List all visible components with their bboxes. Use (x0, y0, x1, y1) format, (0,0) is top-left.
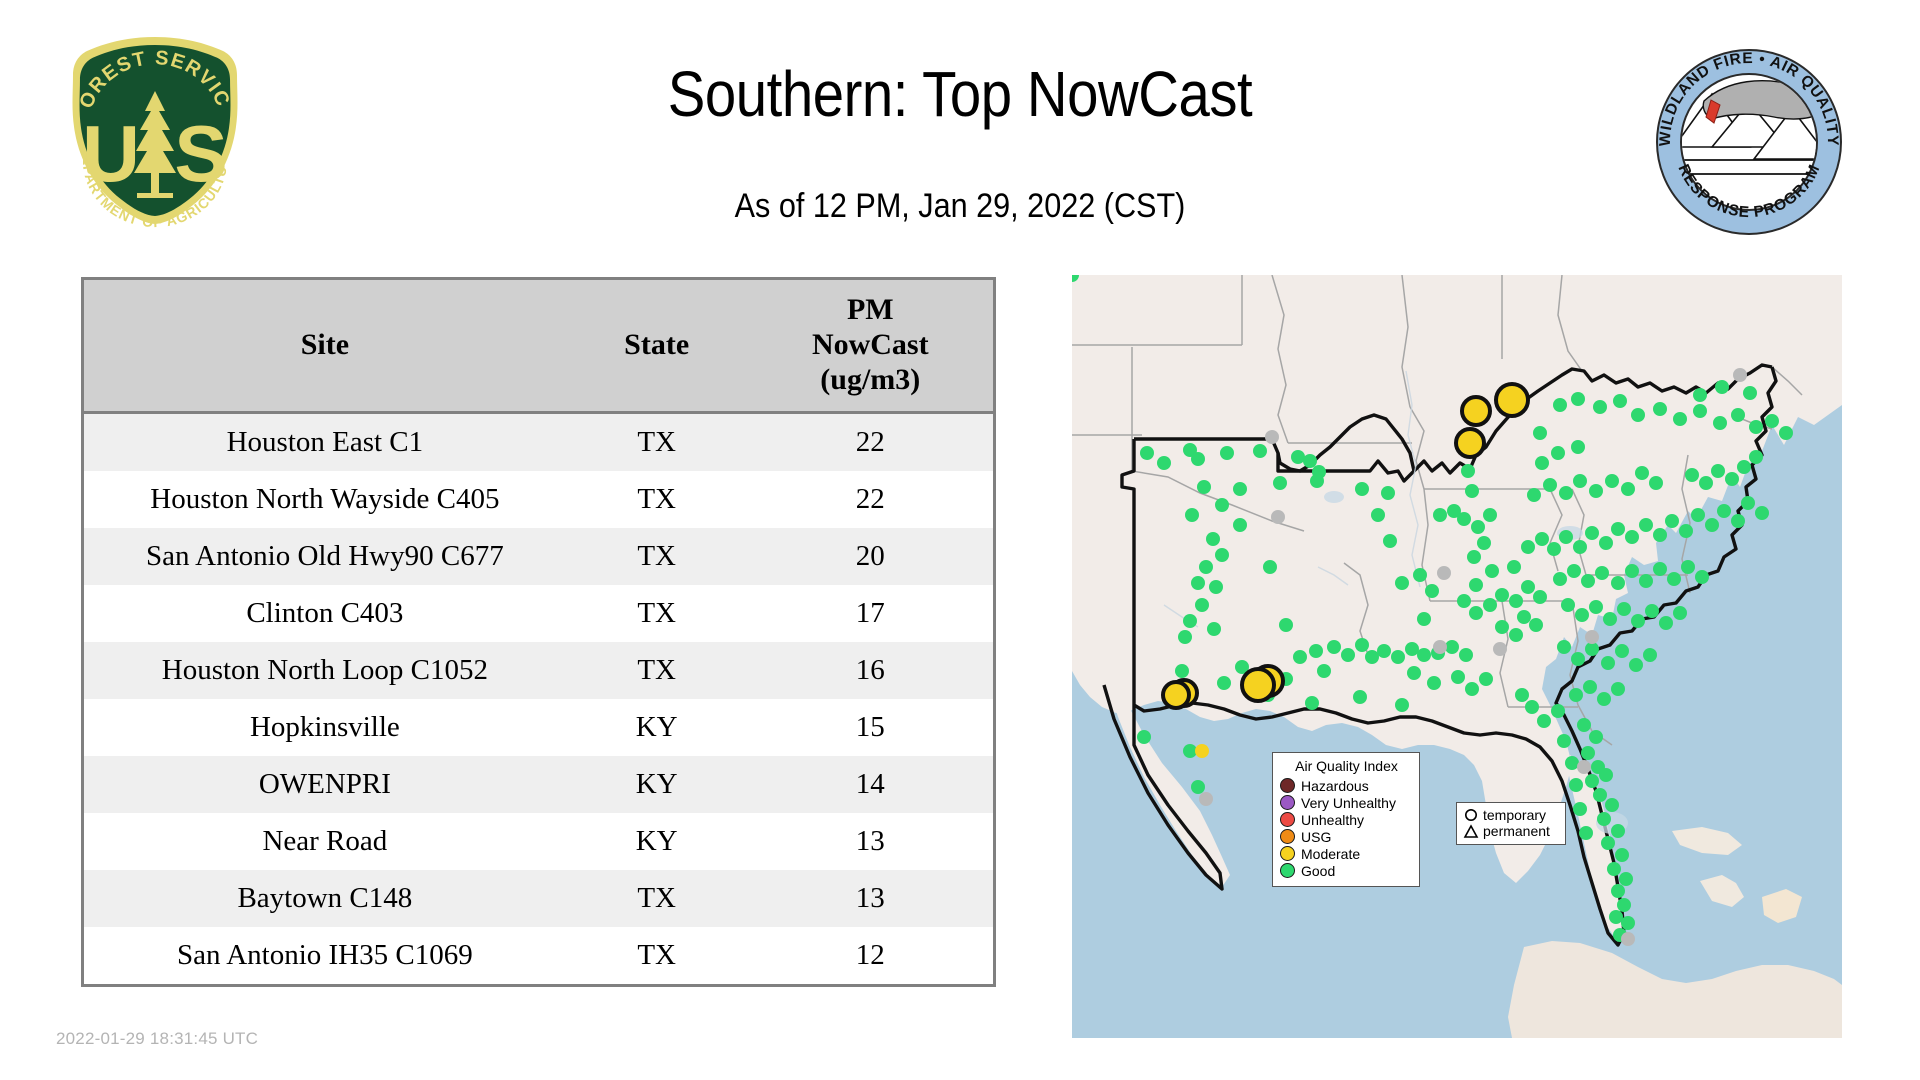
aqi-legend-label: Good (1301, 864, 1335, 878)
aqi-legend-row: Hazardous (1280, 777, 1413, 794)
aqi-legend-label: Moderate (1301, 847, 1360, 861)
cell-value: 13 (748, 813, 993, 870)
legend-row-permanent: permanent (1463, 823, 1560, 839)
aqi-swatch-icon (1280, 829, 1295, 844)
cell-site: Clinton C403 (84, 585, 566, 642)
air-quality-index-legend: Air Quality Index HazardousVery Unhealth… (1272, 752, 1420, 887)
table-row: Baytown C148TX13 (84, 870, 993, 927)
aqi-legend-label: Very Unhealthy (1301, 796, 1396, 810)
cell-value: 22 (748, 471, 993, 528)
aqi-legend-row: Unhealthy (1280, 811, 1413, 828)
cell-value: 12 (748, 927, 993, 984)
cell-state: TX (566, 642, 748, 699)
cell-value: 15 (748, 699, 993, 756)
aqi-legend-row: Very Unhealthy (1280, 794, 1413, 811)
aqi-legend-row: Moderate (1280, 845, 1413, 862)
table-header-row: Site State PM NowCast (ug/m3) (84, 280, 993, 413)
aqi-swatch-icon (1280, 863, 1295, 878)
cell-value: 13 (748, 870, 993, 927)
table-row: San Antonio Old Hwy90 C677TX20 (84, 528, 993, 585)
cell-site: Hopkinsville (84, 699, 566, 756)
cell-state: KY (566, 813, 748, 870)
map-canvas (1072, 275, 1842, 1038)
table-row: Houston East C1TX22 (84, 413, 993, 472)
legend-row-temporary: temporary (1463, 807, 1560, 823)
permanent-triangle-icon (1463, 824, 1479, 839)
cell-site: Baytown C148 (84, 870, 566, 927)
aqi-legend-label: Unhealthy (1301, 813, 1364, 827)
column-header-site: Site (84, 280, 566, 413)
cell-site: Houston North Loop C1052 (84, 642, 566, 699)
table-row: Houston North Wayside C405TX22 (84, 471, 993, 528)
table-row: OWENPRIKY14 (84, 756, 993, 813)
table-row: Houston North Loop C1052TX16 (84, 642, 993, 699)
cell-state: TX (566, 528, 748, 585)
cell-state: KY (566, 756, 748, 813)
cell-value: 20 (748, 528, 993, 585)
generation-timestamp: 2022-01-29 18:31:45 UTC (56, 1029, 258, 1049)
cell-site: San Antonio IH35 C1069 (84, 927, 566, 984)
cell-value: 17 (748, 585, 993, 642)
cell-site: Near Road (84, 813, 566, 870)
aqi-swatch-icon (1280, 846, 1295, 861)
aqi-swatch-icon (1280, 778, 1295, 793)
pm-line-3: (ug/m3) (820, 363, 920, 396)
pm-line-2: NowCast (812, 328, 929, 361)
aqi-legend-label: USG (1301, 830, 1331, 844)
cell-state: TX (566, 471, 748, 528)
pm-line-1: PM (847, 293, 894, 326)
table-row: Near RoadKY13 (84, 813, 993, 870)
table-row: HopkinsvilleKY15 (84, 699, 993, 756)
aqi-legend-title: Air Quality Index (1280, 758, 1413, 774)
column-header-pm-nowcast: PM NowCast (ug/m3) (748, 280, 993, 413)
table-row: San Antonio IH35 C1069TX12 (84, 927, 993, 984)
column-header-state: State (566, 280, 748, 413)
aqi-legend-row: Good (1280, 862, 1413, 879)
cell-value: 16 (748, 642, 993, 699)
page-title: Southern: Top NowCast (115, 58, 1805, 130)
cell-value: 14 (748, 756, 993, 813)
aqi-swatch-icon (1280, 795, 1295, 810)
cell-state: TX (566, 585, 748, 642)
cell-site: San Antonio Old Hwy90 C677 (84, 528, 566, 585)
cell-state: TX (566, 413, 748, 472)
top-nowcast-table: Site State PM NowCast (ug/m3) Houston Ea… (81, 277, 996, 987)
cell-state: TX (566, 927, 748, 984)
legend-label-permanent: permanent (1483, 824, 1550, 838)
page-subtitle: As of 12 PM, Jan 29, 2022 (CST) (96, 185, 1824, 227)
table-row: Clinton C403TX17 (84, 585, 993, 642)
cell-value: 22 (748, 413, 993, 472)
temporary-circle-icon (1463, 808, 1479, 823)
monitor-type-legend: temporary permanent (1456, 802, 1566, 845)
cell-site: OWENPRI (84, 756, 566, 813)
cell-site: Houston East C1 (84, 413, 566, 472)
aqi-swatch-icon (1280, 812, 1295, 827)
legend-label-temporary: temporary (1483, 808, 1546, 822)
cell-state: TX (566, 870, 748, 927)
cell-site: Houston North Wayside C405 (84, 471, 566, 528)
monitor-map[interactable]: Air Quality Index HazardousVery Unhealth… (1072, 275, 1842, 1038)
aqi-legend-row: USG (1280, 828, 1413, 845)
cell-state: KY (566, 699, 748, 756)
aqi-legend-label: Hazardous (1301, 779, 1369, 793)
